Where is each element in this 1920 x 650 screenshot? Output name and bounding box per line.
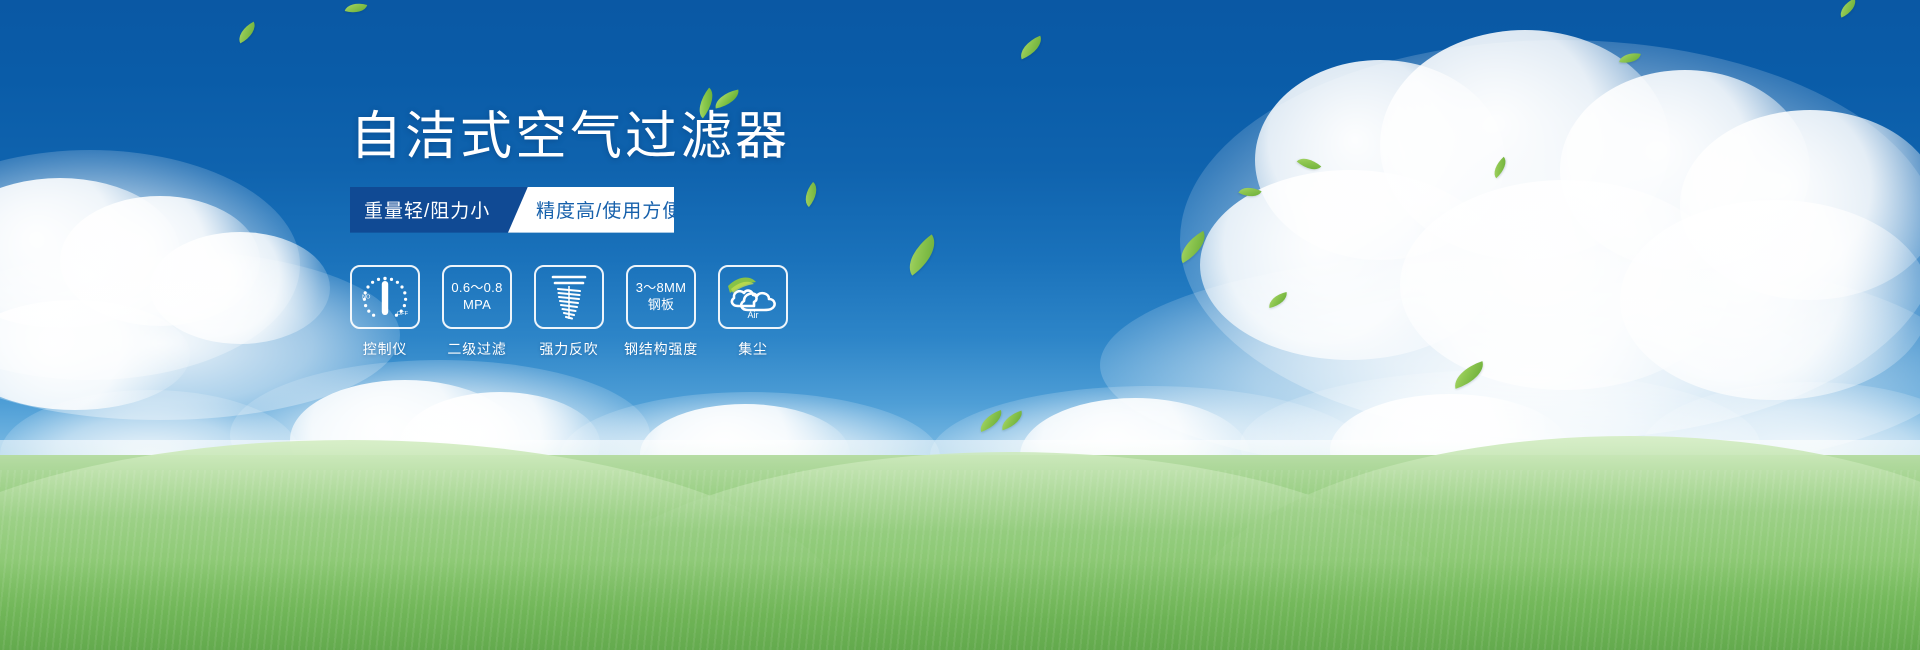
grass-texture (0, 470, 1920, 650)
feature-icon-row: NO OFF 控制仪 0.6～0.8 MPA 二级过滤 (350, 265, 910, 359)
leaf-decoration (1450, 361, 1488, 389)
filter-coil-icon (546, 272, 592, 322)
feature-icon-box: 0.6～0.8 MPA (442, 265, 512, 329)
badge-group: 重量轻/阻力小 精度高/使用方便 (350, 187, 674, 233)
leaf-decoration (1238, 182, 1261, 202)
leaf-decoration (1619, 50, 1641, 65)
banner-content: 自洁式空气过滤器 重量轻/阻力小 精度高/使用方便 (350, 110, 910, 359)
cloud-decoration (0, 150, 300, 380)
page-title: 自洁式空气过滤器 (350, 110, 910, 165)
badge-label: 重量轻/阻力小 (364, 196, 490, 223)
cloud-decoration (1380, 30, 1670, 260)
pressure-value: 0.6～0.8 (451, 280, 502, 296)
steel-plate-text-icon: 3～8MM 钢板 (636, 280, 687, 313)
cloud-decoration (1180, 40, 1920, 440)
leaf-decoration (976, 410, 1005, 432)
leaf-decoration (345, 0, 368, 17)
gauge-label-off: OFF (397, 311, 409, 317)
feature-item-steel-strength: 3～8MM 钢板 钢结构强度 (626, 265, 696, 359)
leaf-decoration (1267, 292, 1289, 308)
feature-item-controller: NO OFF 控制仪 (350, 265, 420, 359)
steel-material: 钢板 (636, 297, 687, 313)
steel-thickness: 3～8MM (636, 280, 687, 296)
leaf-decoration (1016, 36, 1046, 60)
hero-banner: 自洁式空气过滤器 重量轻/阻力小 精度高/使用方便 (0, 0, 1920, 650)
feature-icon-box: 3～8MM 钢板 (626, 265, 696, 329)
pressure-unit: MPA (451, 297, 502, 313)
feature-caption: 强力反吹 (539, 339, 598, 359)
badge-precision-convenience: 精度高/使用方便 (508, 187, 674, 233)
feature-caption: 钢结构强度 (624, 339, 698, 359)
leaf-decoration (1174, 231, 1212, 264)
air-cloud-icon: Air (724, 274, 782, 320)
cloud-decoration (1620, 200, 1920, 400)
leaf-decoration (1836, 0, 1859, 18)
feature-caption: 二级过滤 (447, 339, 506, 359)
feature-caption: 控制仪 (363, 339, 407, 359)
air-label: Air (748, 310, 759, 320)
cloud-decoration (60, 196, 260, 326)
cloud-decoration (0, 300, 190, 410)
feature-item-filtration: 0.6～0.8 MPA 二级过滤 (442, 265, 512, 359)
cloud-decoration (0, 250, 400, 420)
leaf-decoration (234, 22, 260, 44)
cloud-decoration (1255, 60, 1505, 260)
feature-icon-box: NO OFF (350, 265, 420, 329)
leaf-decoration (713, 89, 741, 108)
badge-label: 精度高/使用方便 (536, 196, 682, 223)
leaf-decoration (1297, 152, 1322, 175)
cloud-decoration (1200, 170, 1500, 360)
cloud-decoration (150, 232, 330, 344)
gauge-label-no: NO (362, 294, 371, 300)
feature-icon-box: Air (718, 265, 788, 329)
cloud-decoration (0, 178, 180, 328)
feature-item-backblow: 强力反吹 (534, 265, 604, 359)
feature-caption: 集尘 (738, 339, 768, 359)
pressure-text-icon: 0.6～0.8 MPA (451, 280, 502, 313)
cloud-decoration (1560, 70, 1810, 270)
cloud-decoration (1400, 180, 1730, 390)
gauge-dial-icon: NO OFF (359, 273, 411, 321)
leaf-decoration (999, 411, 1026, 431)
feature-icon-box (534, 265, 604, 329)
cloud-decoration (1680, 110, 1920, 300)
leaf-decoration (1489, 157, 1511, 179)
feature-item-dust-collection: Air 集尘 (718, 265, 788, 359)
